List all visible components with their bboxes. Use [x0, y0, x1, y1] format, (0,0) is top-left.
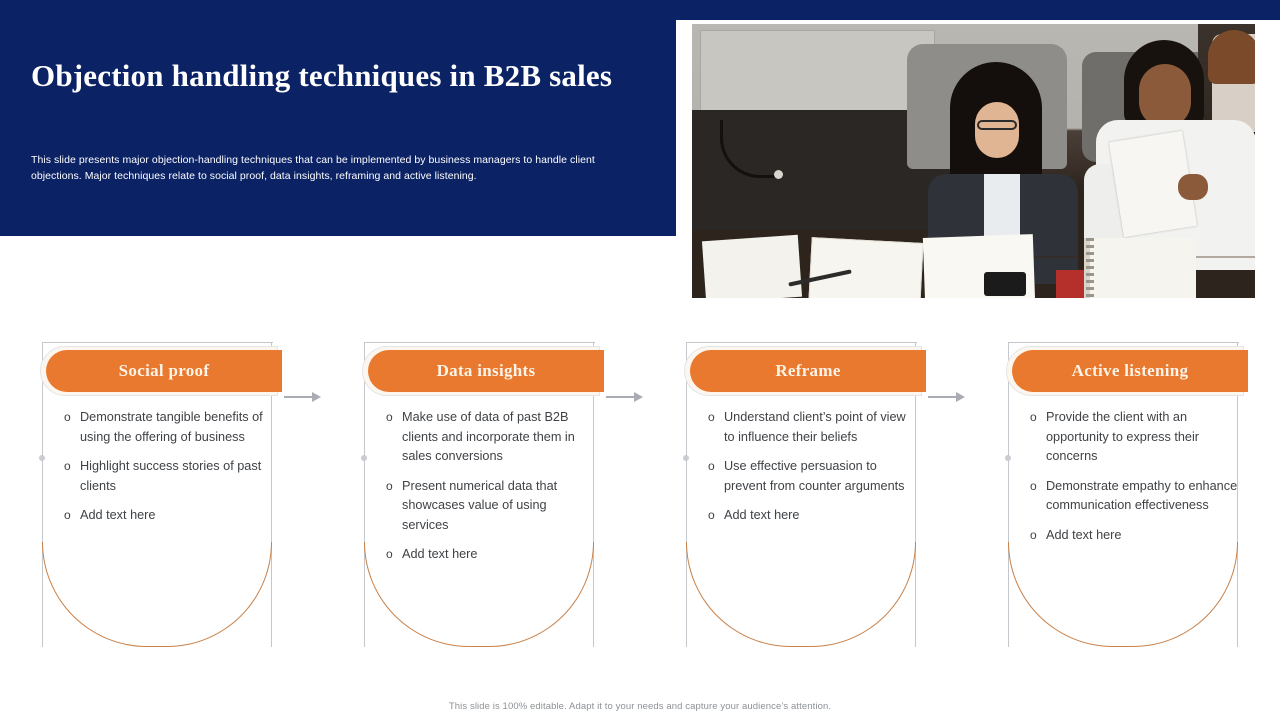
- photo-phone: [984, 272, 1026, 296]
- bullet-marker-icon: o: [386, 477, 402, 536]
- bullet-marker-icon: o: [64, 408, 80, 447]
- card-left-dot: [39, 455, 45, 461]
- bullet-marker-icon: o: [386, 408, 402, 467]
- card-bullet-list: o Understand client’s point of view to i…: [708, 408, 918, 536]
- photo-person-left-face: [975, 102, 1019, 158]
- list-item: o Add text here: [64, 506, 274, 526]
- page-description: This slide presents major objection-hand…: [31, 153, 645, 184]
- list-item: o Use effective persuasion to prevent fr…: [708, 457, 918, 496]
- card-bullet-list: o Demonstrate tangible benefits of using…: [64, 408, 274, 536]
- card-left-dot: [683, 455, 689, 461]
- technique-cards: Social proof o Demonstrate tangible bene…: [0, 330, 1280, 670]
- list-item: o Understand client’s point of view to i…: [708, 408, 918, 447]
- connector-arrow-icon: [606, 392, 646, 402]
- photo-person-right-hand: [1178, 174, 1208, 200]
- card-reframe[interactable]: Reframe o Understand client’s point of v…: [676, 330, 926, 660]
- list-item: o Present numerical data that showcases …: [386, 477, 596, 536]
- header-panel: [0, 0, 676, 236]
- photo-person-right-face: [1139, 64, 1191, 128]
- photo-cable-end: [774, 170, 783, 179]
- photo-desk-paper-2: [808, 237, 923, 298]
- card-left-dot: [1005, 455, 1011, 461]
- list-item: o Provide the client with an opportunity…: [1030, 408, 1240, 467]
- list-item: o Demonstrate empathy to enhance communi…: [1030, 477, 1240, 516]
- bullet-marker-icon: o: [1030, 477, 1046, 516]
- card-title: Data insights: [437, 361, 536, 381]
- bullet-marker-icon: o: [64, 506, 80, 526]
- connector-arrow-icon: [928, 392, 968, 402]
- photo-desk-paper-1: [702, 235, 802, 298]
- bullet-marker-icon: o: [1030, 408, 1046, 467]
- card-social-proof[interactable]: Social proof o Demonstrate tangible bene…: [32, 330, 282, 660]
- card-title: Social proof: [119, 361, 210, 381]
- connector-arrow-icon: [284, 392, 324, 402]
- card-title: Active listening: [1072, 361, 1189, 381]
- list-item: o Add text here: [1030, 526, 1240, 546]
- card-header-pill[interactable]: Active listening: [1012, 350, 1248, 392]
- header-photo-frame: [688, 20, 1259, 302]
- card-bullet-list: o Make use of data of past B2B clients a…: [386, 408, 596, 575]
- card-bullet-list: o Provide the client with an opportunity…: [1030, 408, 1240, 555]
- card-header-pill[interactable]: Data insights: [368, 350, 604, 392]
- card-header-pill[interactable]: Social proof: [46, 350, 282, 392]
- card-data-insights[interactable]: Data insights o Make use of data of past…: [354, 330, 604, 660]
- bullet-marker-icon: o: [708, 506, 724, 526]
- card-header-pill[interactable]: Reframe: [690, 350, 926, 392]
- list-item: o Add text here: [386, 545, 596, 565]
- meeting-photo: [692, 24, 1255, 298]
- card-left-dot: [361, 455, 367, 461]
- page-title: Objection handling techniques in B2B sal…: [31, 54, 631, 98]
- card-active-listening[interactable]: Active listening o Provide the client wi…: [998, 330, 1248, 660]
- bullet-marker-icon: o: [1030, 526, 1046, 546]
- list-item: o Highlight success stories of past clie…: [64, 457, 274, 496]
- bullet-marker-icon: o: [64, 457, 80, 496]
- card-title: Reframe: [775, 361, 840, 381]
- slide: Objection handling techniques in B2B sal…: [0, 0, 1280, 720]
- list-item: o Demonstrate tangible benefits of using…: [64, 408, 274, 447]
- photo-notebook: [1084, 238, 1196, 298]
- photo-notebook-spiral: [1086, 238, 1094, 298]
- bullet-marker-icon: o: [386, 545, 402, 565]
- bullet-marker-icon: o: [708, 457, 724, 496]
- list-item: o Add text here: [708, 506, 918, 526]
- footer-note: This slide is 100% editable. Adapt it to…: [0, 701, 1280, 712]
- photo-person-background-hair: [1208, 30, 1255, 84]
- photo-person-left-glasses: [977, 120, 1017, 130]
- photo-whiteboard: [700, 30, 935, 116]
- list-item: o Make use of data of past B2B clients a…: [386, 408, 596, 467]
- bullet-marker-icon: o: [708, 408, 724, 447]
